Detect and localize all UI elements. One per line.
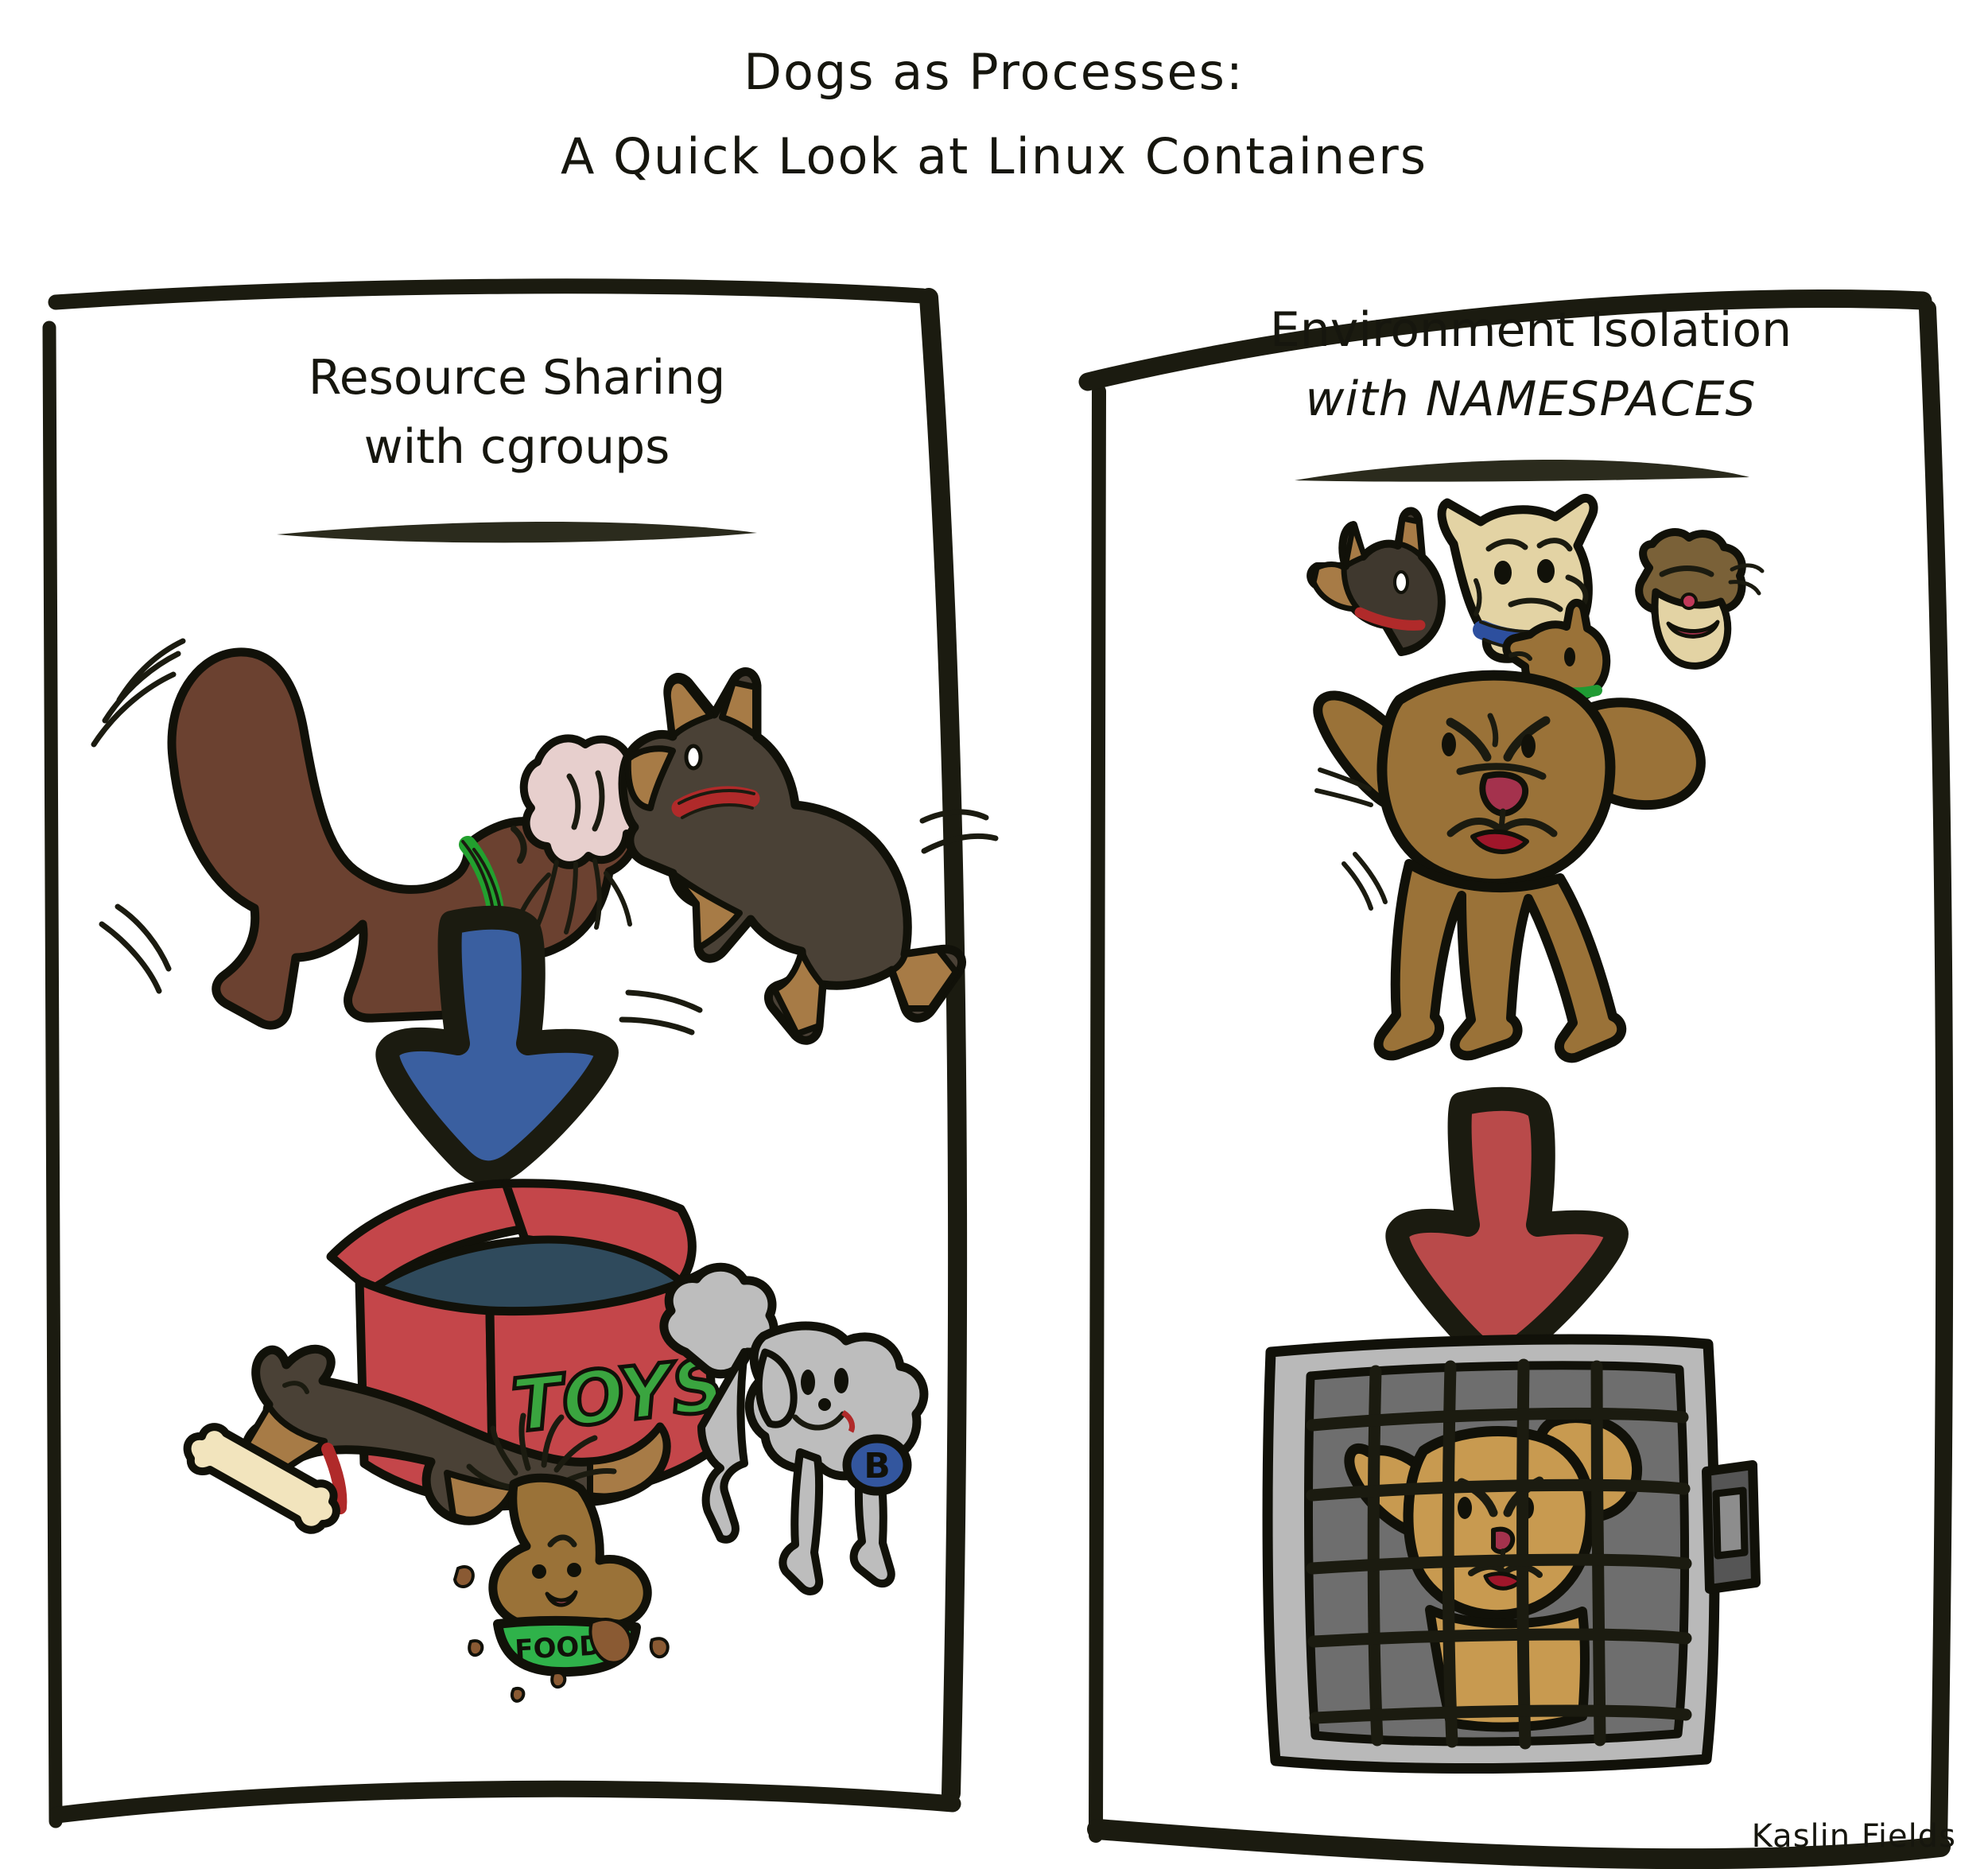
spilled-kibble: [455, 1567, 668, 1701]
chocolate-lab: [172, 652, 636, 1025]
scruffy-fur: [469, 1416, 614, 1487]
green-collar: [468, 845, 496, 915]
toy-box-scene: TOYS: [188, 1183, 924, 1701]
svg-text:TOYS: TOYS: [508, 1342, 728, 1449]
ball-letter: B: [864, 1446, 891, 1486]
scruffy-dog: [493, 1478, 647, 1644]
toy-box-label: TOYS: [508, 1342, 728, 1449]
red-down-arrow-group: [1397, 1099, 1617, 1354]
red-down-arrow: [1397, 1099, 1617, 1354]
comic-canvas: TOYS: [0, 0, 1988, 1869]
crate-bars-horizontal: [1312, 1413, 1686, 1718]
green-collar-small: [1536, 686, 1597, 693]
plush-toy: [517, 738, 653, 932]
dog-head-doberman: [1310, 511, 1442, 652]
panel-frame-left: [49, 286, 957, 1821]
poodle-tail: [664, 1267, 774, 1374]
motion-lines-left: [94, 641, 183, 991]
crate-latch: [1706, 1465, 1756, 1589]
food-bowl-text: FOOD: [514, 1630, 602, 1666]
scruffy-dog-at-bowl: FOOD: [455, 1416, 668, 1701]
left-title-underline: [277, 522, 757, 542]
toy-box-front: [490, 1273, 716, 1506]
crate-bars-vertical: [1373, 1365, 1600, 1743]
right-title-underline: [1295, 460, 1749, 482]
dog-head-tan-large: [1442, 498, 1594, 659]
bone-toy: [188, 1427, 336, 1530]
title-line-2: A Quick Look at Linux Containers: [0, 132, 1988, 181]
panel-title-cgroups-line1: Resource Sharing: [171, 350, 863, 406]
crated-dog: [1349, 1418, 1637, 1727]
toy-box-side: [359, 1280, 493, 1505]
title-line-1: Dogs as Processes:: [0, 48, 1988, 97]
toy-box-flap-left: [331, 1183, 557, 1292]
toy-box-interior: [371, 1240, 689, 1336]
panel-title-namespaces-line2: with NAMESPACES: [1169, 371, 1893, 428]
dog-heads-row: [1310, 498, 1762, 698]
panel-title-namespaces: Environment Isolation with NAMESPACES: [1169, 302, 1893, 428]
toy-box-flap-right: [506, 1183, 692, 1290]
panel-title-cgroups: Resource Sharing with cgroups: [171, 350, 863, 476]
blue-ball: B: [847, 1439, 907, 1491]
panel-title-cgroups-line2: with cgroups: [171, 419, 863, 476]
blue-down-arrow: [387, 918, 607, 1173]
doberman: [623, 672, 962, 1041]
crate-interior: [1309, 1366, 1685, 1742]
blue-collar: [1482, 630, 1565, 639]
dog-head-bulldog: [1639, 532, 1762, 666]
crate-frame: [1268, 1339, 1714, 1768]
poodle: [664, 1267, 924, 1591]
artist-signature: Kaslin Fields: [1752, 1818, 1956, 1855]
comic-title: Dogs as Processes: A Quick Look at Linux…: [0, 48, 1988, 181]
red-collar: [681, 795, 751, 808]
panel-title-namespaces-line1: Environment Isolation: [1169, 302, 1893, 359]
poodle-head: [749, 1326, 924, 1476]
motion-lines-paw: [622, 993, 700, 1032]
motion-lines-right: [922, 812, 996, 851]
illustration-layer: TOYS: [0, 0, 1988, 1869]
doberman-pup: [245, 1349, 666, 1521]
tug-of-war-scene: [94, 641, 996, 1040]
big-brown-dog: [1317, 675, 1701, 1058]
food-bowl: [498, 1621, 636, 1672]
blue-down-arrow-group: [387, 918, 607, 1173]
dog-crate: [1268, 1339, 1756, 1768]
panel-frame-right: [1088, 299, 1944, 1859]
dog-head-small-green: [1506, 603, 1606, 698]
